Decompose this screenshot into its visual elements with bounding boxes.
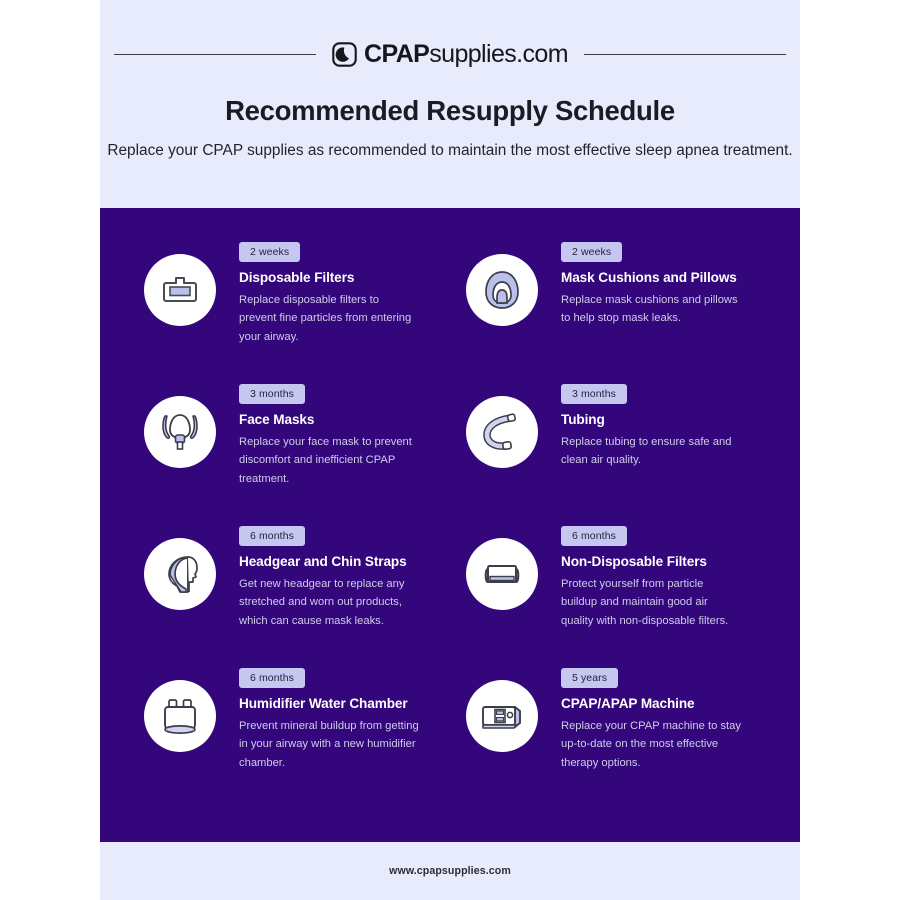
schedule-item: 2 weeks Mask Cushions and Pillows Replac… xyxy=(466,242,756,384)
item-description: Replace mask cushions and pillows to hel… xyxy=(561,291,741,327)
brand-name-bold: CPAP xyxy=(364,40,429,68)
disposable-filter-icon xyxy=(155,265,205,315)
schedule-item-body: 3 months Tubing Replace tubing to ensure… xyxy=(538,384,756,469)
page-title: Recommended Resupply Schedule xyxy=(100,95,800,127)
divider-right xyxy=(584,54,786,55)
schedule-item: 2 weeks Disposable Filters Replace dispo… xyxy=(144,242,434,384)
icon-circle xyxy=(466,396,538,468)
icon-circle xyxy=(144,680,216,752)
schedule-item-body: 2 weeks Disposable Filters Replace dispo… xyxy=(216,242,434,345)
icon-circle xyxy=(466,538,538,610)
interval-badge: 2 weeks xyxy=(561,242,622,262)
page-subtitle: Replace your CPAP supplies as recommende… xyxy=(100,140,800,162)
interval-badge: 6 months xyxy=(239,668,305,688)
item-title: CPAP/APAP Machine xyxy=(561,696,756,711)
interval-badge: 5 years xyxy=(561,668,618,688)
interval-badge: 6 months xyxy=(561,526,627,546)
item-description: Get new headgear to replace any stretche… xyxy=(239,575,419,629)
schedule-item-body: 6 months Non-Disposable Filters Protect … xyxy=(538,526,756,629)
item-description: Protect yourself from particle buildup a… xyxy=(561,575,741,629)
schedule-item-body: 3 months Face Masks Replace your face ma… xyxy=(216,384,434,487)
schedule-grid: 2 weeks Disposable Filters Replace dispo… xyxy=(144,242,756,810)
humidifier-chamber-icon xyxy=(155,691,205,741)
infographic-page: CPAPsupplies.com Recommended Resupply Sc… xyxy=(100,0,800,900)
icon-circle xyxy=(144,396,216,468)
interval-badge: 2 weeks xyxy=(239,242,300,262)
non-disposable-filter-icon xyxy=(477,549,527,599)
schedule-item-body: 6 months Headgear and Chin Straps Get ne… xyxy=(216,526,434,629)
item-title: Humidifier Water Chamber xyxy=(239,696,434,711)
interval-badge: 3 months xyxy=(561,384,627,404)
tubing-icon xyxy=(477,407,527,457)
mask-cushion-icon xyxy=(477,265,527,315)
schedule-item: 3 months Tubing Replace tubing to ensure… xyxy=(466,384,756,526)
schedule-item-body: 6 months Humidifier Water Chamber Preven… xyxy=(216,668,434,771)
cpap-machine-icon xyxy=(477,691,527,741)
icon-circle xyxy=(144,254,216,326)
icon-circle xyxy=(144,538,216,610)
schedule-panel: 2 weeks Disposable Filters Replace dispo… xyxy=(100,208,800,842)
brand-logo: CPAPsupplies.com xyxy=(316,40,584,69)
icon-circle xyxy=(466,254,538,326)
item-title: Face Masks xyxy=(239,412,434,427)
footer-url[interactable]: www.cpapsupplies.com xyxy=(389,865,511,877)
interval-badge: 3 months xyxy=(239,384,305,404)
schedule-item-body: 2 weeks Mask Cushions and Pillows Replac… xyxy=(538,242,756,327)
item-title: Tubing xyxy=(561,412,756,427)
headgear-icon xyxy=(155,549,205,599)
schedule-item: 6 months Humidifier Water Chamber Preven… xyxy=(144,668,434,810)
brand-name-light: supplies.com xyxy=(429,40,568,68)
schedule-item: 3 months Face Masks Replace your face ma… xyxy=(144,384,434,526)
divider-left xyxy=(114,54,316,55)
item-description: Replace tubing to ensure safe and clean … xyxy=(561,433,741,469)
schedule-item: 6 months Headgear and Chin Straps Get ne… xyxy=(144,526,434,668)
interval-badge: 6 months xyxy=(239,526,305,546)
footer: www.cpapsupplies.com xyxy=(100,842,800,900)
brand-name: CPAPsupplies.com xyxy=(364,40,568,69)
schedule-item-body: 5 years CPAP/APAP Machine Replace your C… xyxy=(538,668,756,771)
icon-circle xyxy=(466,680,538,752)
item-description: Replace your CPAP machine to stay up-to-… xyxy=(561,717,741,771)
item-description: Prevent mineral buildup from getting in … xyxy=(239,717,419,771)
header-spacer xyxy=(100,162,800,208)
header: CPAPsupplies.com Recommended Resupply Sc… xyxy=(100,0,800,208)
schedule-item: 5 years CPAP/APAP Machine Replace your C… xyxy=(466,668,756,810)
item-title: Non-Disposable Filters xyxy=(561,554,756,569)
item-description: Replace disposable filters to prevent fi… xyxy=(239,291,419,345)
item-title: Mask Cushions and Pillows xyxy=(561,270,756,285)
item-title: Disposable Filters xyxy=(239,270,434,285)
moon-in-rounded-square-icon xyxy=(332,42,357,67)
brand-row: CPAPsupplies.com xyxy=(100,40,800,69)
item-description: Replace your face mask to prevent discom… xyxy=(239,433,419,487)
schedule-item: 6 months Non-Disposable Filters Protect … xyxy=(466,526,756,668)
face-mask-icon xyxy=(155,407,205,457)
item-title: Headgear and Chin Straps xyxy=(239,554,434,569)
